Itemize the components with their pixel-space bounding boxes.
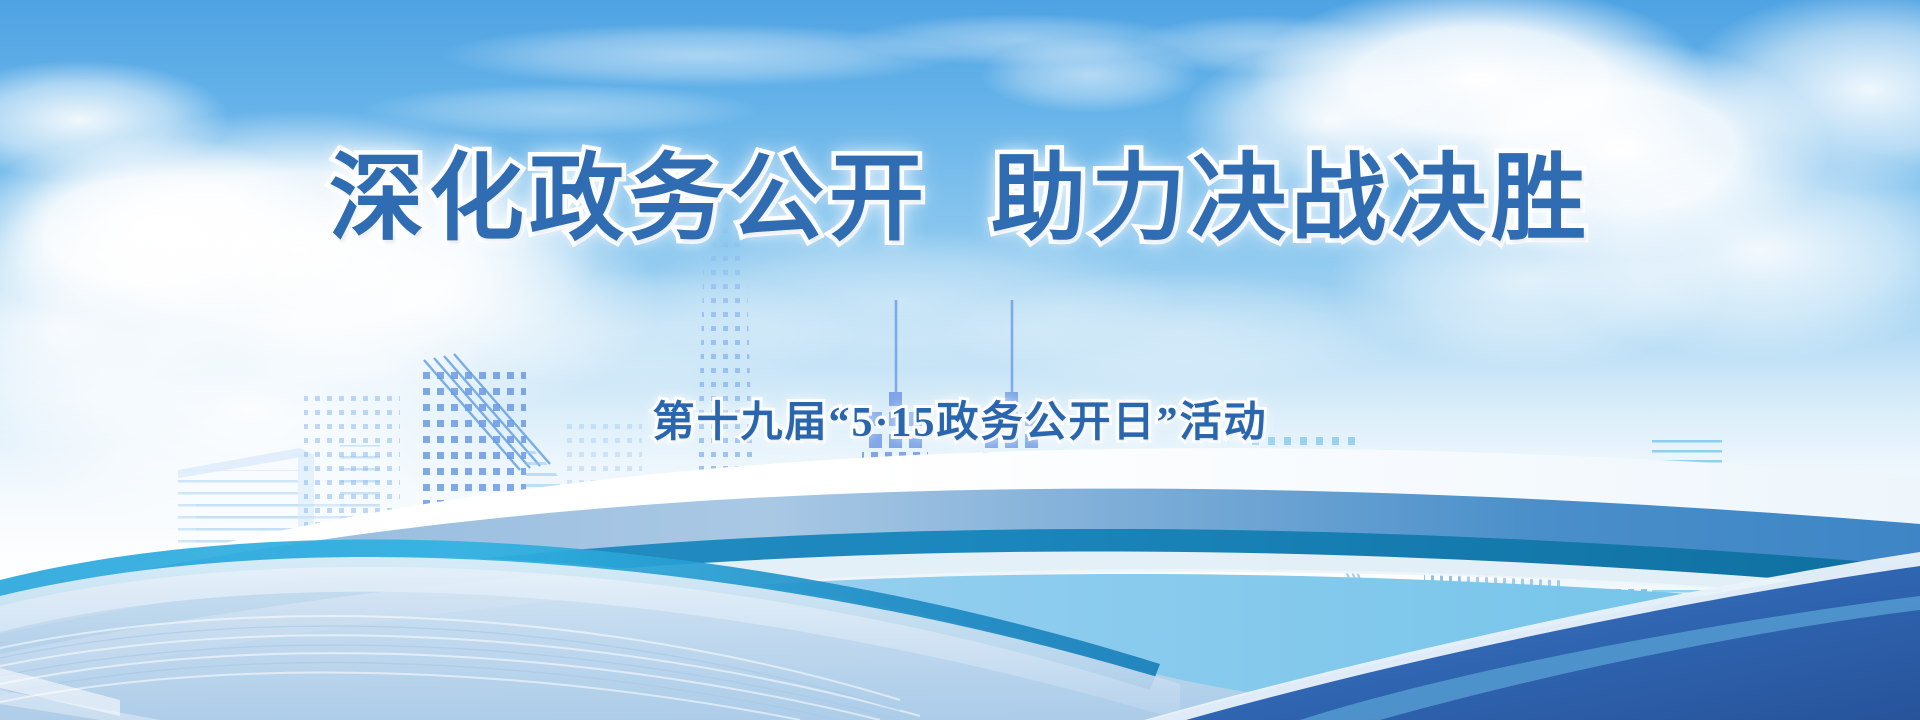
event-banner: 深化政务公开助力决战决胜 第十九届“5·15政务公开日”活动 [0,0,1920,720]
wave-ribbons [0,0,1920,720]
wave-ribbons-graphic [0,0,1920,720]
